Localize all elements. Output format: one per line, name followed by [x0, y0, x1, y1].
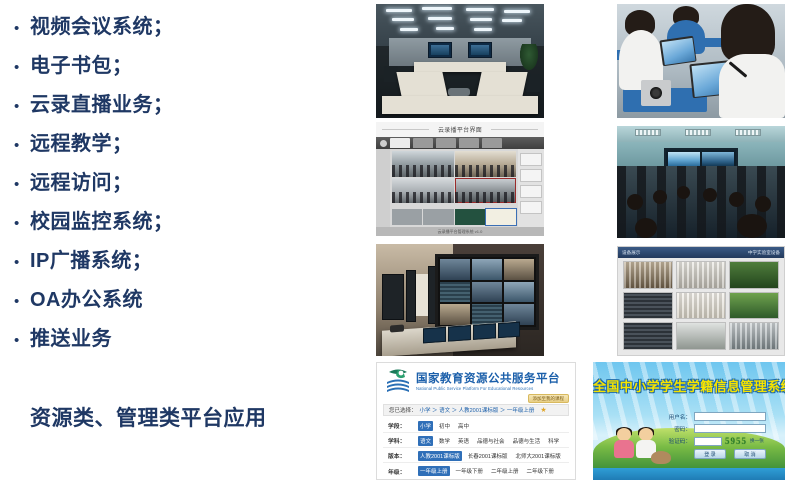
image-student-status-management-login: 全国中小学学生学籍信息管理系统 用户名：	[593, 362, 785, 480]
video-wall-cell	[440, 304, 470, 325]
list-item: • 校园监控系统；	[0, 205, 360, 244]
badge-label: 添加至我的课程	[533, 396, 565, 402]
tab-settings[interactable]	[482, 138, 502, 148]
bullet-label: 推送业务	[30, 322, 112, 351]
gallery-photo[interactable]	[676, 292, 726, 320]
add-to-my-course-button[interactable]: 添加至我的课程	[528, 394, 570, 403]
console-monitor	[473, 323, 496, 340]
cancel-button[interactable]: 取 消	[734, 449, 766, 459]
thumbnail-blackboard[interactable]	[455, 209, 485, 225]
gallery-photo[interactable]	[676, 261, 726, 289]
filter-option[interactable]: 数学	[437, 436, 452, 446]
filter-label: 学科：	[388, 436, 414, 445]
filter-option[interactable]: 一年级下册	[454, 466, 486, 476]
slide-canvas: • 视频会议系统； • 电子书包； • 云录直播业务； • 远程教学； • 远程…	[0, 0, 786, 485]
tab-home[interactable]	[390, 138, 410, 148]
cloud-recording-toolbar	[376, 137, 544, 149]
bullet-label: IP广播系统；	[30, 244, 152, 273]
image-cloud-recording-platform: 云录播平台界面	[376, 122, 544, 236]
summary-text: 资源类、管理类平台应用	[30, 402, 267, 432]
login-button[interactable]: 登 录	[694, 449, 726, 459]
app-logo-icon	[380, 140, 387, 147]
filter-row-subject: 学科： 语文 数学 英语 品德与社会 品德与生活 科学	[383, 434, 569, 448]
filter-row-version: 版本： 人教2001课标版 长春2001课标版 北师大2001课标版	[383, 449, 569, 463]
bullet-label: 电子书包；	[30, 49, 133, 78]
footer-text: 云录播平台管理系统 v1.0	[438, 229, 483, 235]
captcha-image: 5955	[725, 436, 747, 446]
password-input[interactable]	[694, 424, 766, 433]
gallery-photo[interactable]	[729, 292, 779, 320]
gallery-header-right: 中学实验室设备	[748, 250, 780, 256]
gallery-photo[interactable]	[729, 322, 779, 350]
filter-option[interactable]: 英语	[456, 436, 471, 446]
gallery-photo[interactable]	[623, 322, 673, 350]
console-monitor	[423, 327, 446, 344]
cloud-recording-footer: 云录播平台管理系统 v1.0	[376, 227, 544, 236]
edu-platform-header: 国家教育资源公共服务平台 National Public Service Pla…	[377, 363, 575, 397]
bullet-marker-icon: •	[14, 216, 30, 231]
username-label: 用户名：	[665, 413, 691, 421]
thumbnail[interactable]	[423, 209, 453, 225]
filter-option[interactable]: 二年级下册	[525, 466, 557, 476]
captcha-row: 验证码： 5955 换一张	[665, 436, 773, 446]
list-item: • OA办公系统	[0, 283, 360, 322]
bullet-marker-icon: •	[14, 177, 30, 192]
list-item: • 视频会议系统；	[0, 10, 360, 49]
filter-option[interactable]: 人教2001课标版	[418, 451, 462, 461]
username-input[interactable]	[694, 412, 766, 421]
control-box-camera[interactable]	[520, 153, 542, 166]
platform-title-en: National Public Service Platform For Edu…	[416, 386, 560, 391]
login-form-buttons: 登 录 取 消	[694, 449, 773, 459]
list-item: • 远程访问；	[0, 166, 360, 205]
bullet-marker-icon: •	[14, 60, 30, 75]
bullet-label: 校园监控系统；	[30, 205, 174, 234]
bullet-marker-icon: •	[14, 294, 30, 309]
filter-option[interactable]: 品德与生活	[511, 436, 543, 446]
gallery-header-left: 设备展示	[622, 250, 640, 256]
system-title: 全国中小学学生学籍信息管理系统	[593, 376, 785, 395]
bullet-marker-icon: •	[14, 99, 30, 114]
gallery-header: 设备展示 中学实验室设备	[618, 247, 784, 258]
platform-logo-icon	[385, 367, 411, 393]
control-box-record[interactable]	[520, 185, 542, 198]
password-label: 密码：	[665, 425, 691, 433]
video-cell[interactable]	[392, 151, 454, 177]
cloud-recording-control-pane	[518, 149, 544, 227]
video-wall-cell	[504, 259, 534, 280]
password-row: 密码：	[665, 424, 773, 433]
login-button-label: 登 录	[704, 451, 715, 458]
video-wall-cell	[440, 282, 470, 303]
tab-live[interactable]	[413, 138, 433, 148]
display-screen	[702, 152, 734, 166]
filter-option[interactable]: 二年级上册	[489, 466, 521, 476]
display-screen	[668, 152, 700, 166]
video-cell[interactable]	[392, 178, 454, 204]
bullet-label: 云录直播业务；	[30, 88, 174, 117]
bullet-label: 远程访问；	[30, 166, 133, 195]
favorite-star-icon[interactable]: ★	[540, 406, 546, 414]
image-remote-teaching-classroom	[617, 126, 785, 238]
cloud-recording-thumbnail-strip	[392, 209, 516, 225]
filter-row-stage: 学段： 小学 初中 高中	[383, 419, 569, 433]
selected-path: 小学 ＞ 语文 ＞ 人教2001课标版 ＞ 一年级上册	[420, 406, 535, 414]
filter-option[interactable]: 品德与社会	[475, 436, 507, 446]
selected-label: 您已选择：	[389, 406, 417, 414]
tab-vod[interactable]	[436, 138, 456, 148]
bullet-label: 远程教学；	[30, 127, 133, 156]
filter-option[interactable]: 科学	[546, 436, 561, 446]
bullet-marker-icon: •	[14, 255, 30, 270]
cloud-recording-video-grid	[392, 151, 516, 203]
bullet-marker-icon: •	[14, 138, 30, 153]
image-video-conference-room	[376, 4, 544, 118]
login-form: 用户名： 密码： 验证码： 5955 换一张 登 录	[665, 412, 773, 459]
video-wall-cell	[472, 259, 502, 280]
gallery-photo[interactable]	[729, 261, 779, 289]
gallery-photo[interactable]	[623, 261, 673, 289]
list-item: • 远程教学；	[0, 127, 360, 166]
filter-option[interactable]: 语文	[418, 436, 433, 446]
list-item: • IP广播系统；	[0, 244, 360, 283]
refresh-captcha-link[interactable]: 换一张	[750, 438, 764, 444]
filter-label: 学段：	[388, 421, 414, 430]
list-item: • 云录直播业务；	[0, 88, 360, 127]
filter-label: 年级：	[388, 467, 414, 476]
list-item: • 电子书包；	[0, 49, 360, 88]
filter-option[interactable]: 长春2001课标版	[466, 451, 510, 461]
cloud-recording-caption: 云录播平台界面	[434, 125, 486, 134]
image-surveillance-control-room	[376, 244, 544, 356]
control-box-layout[interactable]	[520, 169, 542, 182]
video-wall	[435, 254, 539, 330]
thumbnail-slide[interactable]	[486, 209, 516, 225]
video-wall-cell	[440, 259, 470, 280]
list-item: • 推送业务	[0, 322, 360, 361]
captcha-label: 验证码：	[665, 437, 691, 445]
gallery-grid	[623, 261, 779, 350]
cancel-button-label: 取 消	[744, 451, 755, 458]
console-monitor	[498, 322, 521, 339]
gallery-photo[interactable]	[676, 322, 726, 350]
filter-option[interactable]: 高中	[456, 421, 471, 431]
selected-path-bar: 您已选择： 小学 ＞ 语文 ＞ 人教2001课标版 ＞ 一年级上册 ★	[383, 404, 569, 416]
filter-option[interactable]: 初中	[437, 421, 452, 431]
filter-row-grade: 年级： 一年级上册 一年级下册 二年级上册 二年级下册	[383, 464, 569, 478]
cloud-recording-caption-bar: 云录播平台界面	[376, 122, 544, 137]
image-equipment-gallery: 设备展示 中学实验室设备	[617, 246, 785, 356]
thumbnail[interactable]	[392, 209, 422, 225]
console-monitor	[448, 325, 471, 342]
video-cell[interactable]	[455, 151, 517, 177]
bullet-label: 视频会议系统；	[30, 10, 174, 39]
tab-manage[interactable]	[459, 138, 479, 148]
image-students-with-tablets	[617, 4, 785, 118]
control-box-audio[interactable]	[520, 201, 542, 214]
video-cell-selected[interactable]	[455, 178, 517, 204]
video-wall-cell	[504, 282, 534, 303]
bullet-label: OA办公系统	[30, 283, 143, 312]
platform-title-cn: 国家教育资源公共服务平台	[416, 370, 560, 386]
filter-option[interactable]: 小学	[418, 421, 433, 431]
bullet-marker-icon: •	[14, 333, 30, 348]
gallery-photo[interactable]	[623, 292, 673, 320]
video-wall-cell	[472, 282, 502, 303]
filter-option[interactable]: 北师大2001课标版	[514, 451, 563, 461]
image-national-education-resource-platform: 国家教育资源公共服务平台 National Public Service Pla…	[376, 362, 576, 480]
cloud-recording-left-pane	[376, 149, 390, 227]
captcha-input[interactable]	[694, 437, 722, 446]
filter-option[interactable]: 一年级上册	[418, 466, 450, 476]
filter-label: 版本：	[388, 451, 414, 460]
bullet-marker-icon: •	[14, 21, 30, 36]
username-row: 用户名：	[665, 412, 773, 421]
